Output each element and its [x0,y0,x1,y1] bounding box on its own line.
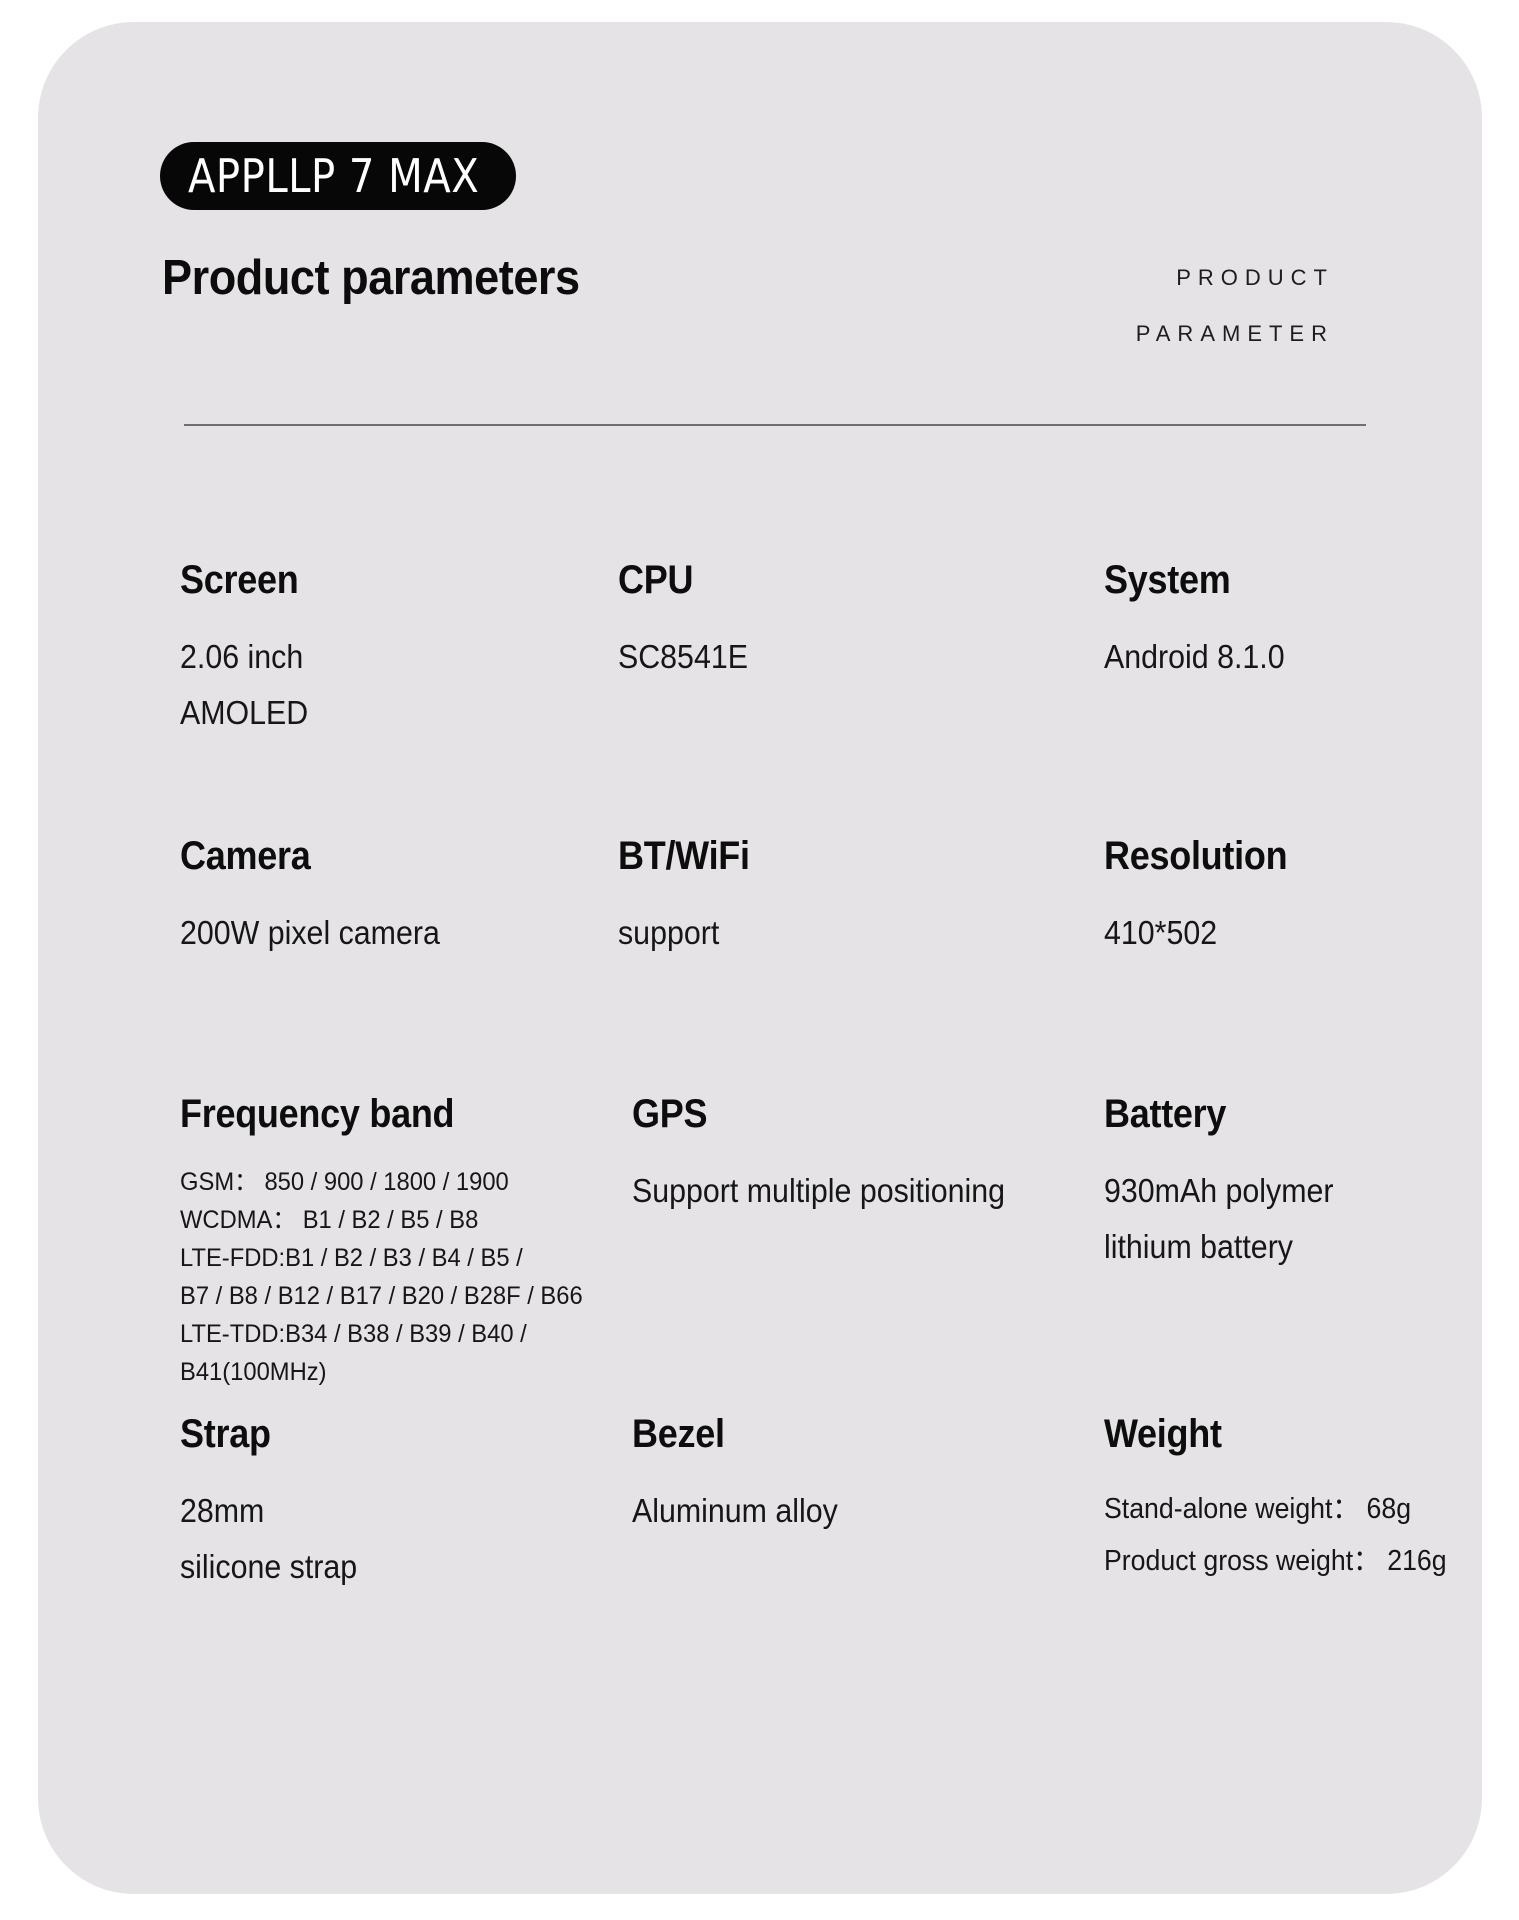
spec-value: 410*502 [1104,905,1435,961]
spec-value: lithium battery [1104,1219,1435,1275]
spec-item-system: System Android 8.1.0 [1104,558,1464,685]
spec-item-gps: GPS Support multiple positioning [632,1092,1102,1219]
spec-label: Screen [180,558,504,603]
spec-value: SC8541E [618,629,986,685]
spec-label: Resolution [1104,834,1428,879]
page-title: Product parameters [162,250,580,306]
spec-item-frequency-band: Frequency band GSM： 850 / 900 / 1800 / 1… [180,1092,610,1391]
spec-label: Frequency band [180,1092,567,1137]
spec-label: CPU [618,558,978,603]
spec-label: BT/WiFi [618,834,978,879]
spec-item-resolution: Resolution 410*502 [1104,834,1464,961]
product-name-badge: APPLLP 7 MAX [160,142,516,210]
spec-row: Frequency band GSM： 850 / 900 / 1800 / 1… [38,1092,1482,1412]
spec-row: Strap 28mm silicone strap Bezel Aluminum… [38,1412,1482,1672]
spec-item-screen: Screen 2.06 inch AMOLED [180,558,540,741]
spec-item-battery: Battery 930mAh polymer lithium battery [1104,1092,1464,1275]
spec-item-cpu: CPU SC8541E [618,558,1018,685]
spec-item-bt-wifi: BT/WiFi support [618,834,1018,961]
spec-row: Screen 2.06 inch AMOLED CPU SC8541E Syst… [38,558,1482,834]
spec-grid: Screen 2.06 inch AMOLED CPU SC8541E Syst… [38,558,1482,1672]
spec-value: 930mAh polymer [1104,1163,1435,1219]
spec-value: Product gross weight： 216g [1104,1535,1490,1587]
spec-item-camera: Camera 200W pixel camera [180,834,540,961]
spec-row: Camera 200W pixel camera BT/WiFi support… [38,834,1482,1092]
spec-label: System [1104,558,1428,603]
spec-value: 2.06 inch [180,629,511,685]
eyebrow-line-2: PARAMETER [914,306,1334,362]
spec-value: Aluminum alloy [632,1483,1000,1539]
spec-label: Strap [180,1412,504,1457]
frequency-band-list: GSM： 850 / 900 / 1800 / 1900 WCDMA： B1 /… [180,1163,589,1391]
spec-value: silicone strap [180,1539,511,1595]
spec-item-strap: Strap 28mm silicone strap [180,1412,540,1595]
band-line: B41(100MHz) [180,1353,589,1391]
spec-item-weight: Weight Stand-alone weight： 68g Product g… [1104,1412,1519,1587]
spec-value: AMOLED [180,685,511,741]
spec-label: Bezel [632,1412,992,1457]
band-line: LTE-TDD:B34 / B38 / B39 / B40 / [180,1315,589,1353]
section-eyebrow: PRODUCT PARAMETER [914,250,1334,362]
spec-value: Android 8.1.0 [1104,629,1435,685]
spec-item-bezel: Bezel Aluminum alloy [632,1412,1032,1539]
spec-value: support [618,905,986,961]
spec-label: Camera [180,834,504,879]
spec-value: 28mm [180,1483,511,1539]
spec-label: GPS [632,1092,1055,1137]
spec-value: Support multiple positioning [632,1163,1064,1219]
band-line: GSM： 850 / 900 / 1800 / 1900 [180,1163,589,1201]
spec-label: Battery [1104,1092,1428,1137]
spec-label: Weight [1104,1412,1482,1457]
spec-value: 200W pixel camera [180,905,511,961]
product-parameters-card: APPLLP 7 MAX Product parameters PRODUCT … [38,22,1482,1894]
band-line: WCDMA： B1 / B2 / B5 / B8 [180,1201,589,1239]
header-divider [184,424,1366,426]
product-name-label: APPLLP 7 MAX [188,149,479,203]
band-line: B7 / B8 / B12 / B17 / B20 / B28F / B66 [180,1277,589,1315]
spec-value: Stand-alone weight： 68g [1104,1483,1490,1535]
band-line: LTE-FDD:B1 / B2 / B3 / B4 / B5 / [180,1239,589,1277]
eyebrow-line-1: PRODUCT [914,250,1334,306]
